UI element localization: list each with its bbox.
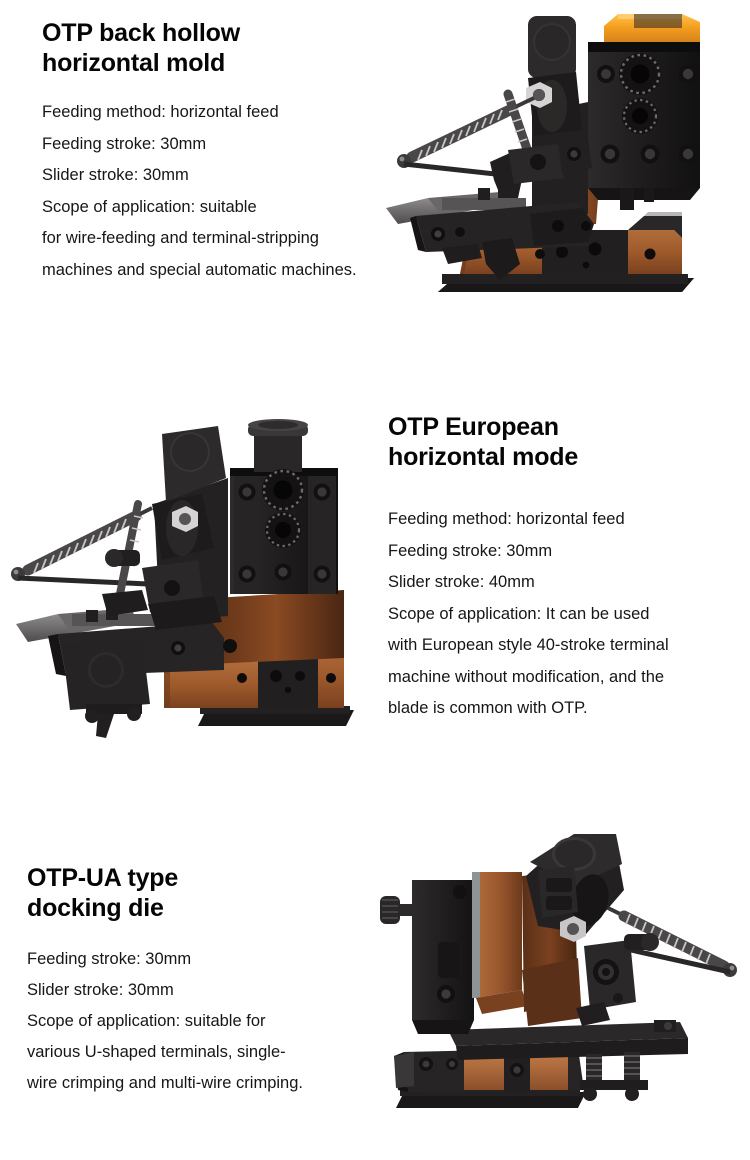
rounded-top-cap [528, 16, 576, 78]
product-section-otp-european: OTP European horizontal mode Feeding met… [0, 390, 750, 830]
spring-arm [11, 504, 152, 594]
left-housing [380, 880, 474, 1034]
product-image-otp-back-hollow [382, 2, 742, 312]
feed-finger [530, 208, 594, 246]
ram-body [526, 16, 588, 222]
ram-head [526, 834, 624, 942]
die-head-assembly [588, 14, 700, 210]
product-section-otp-back-hollow: OTP back hollow horizontal mold Feeding … [0, 0, 750, 390]
product-section-otp-ua-docking-die: OTP-UA type docking die Feeding stroke: … [0, 830, 750, 1160]
threaded-posts [580, 1052, 648, 1101]
product-image-otp-european [2, 408, 368, 748]
copper-column [208, 590, 344, 664]
copper-panel [472, 872, 528, 1014]
product-text-block: OTP-UA type docking die Feeding stroke: … [27, 863, 362, 1099]
product-image-otp-ua-docking-die [378, 830, 750, 1160]
die-head-assembly [230, 419, 338, 594]
product-title: OTP-UA type docking die [27, 863, 362, 923]
spring-arm [397, 94, 534, 200]
cylinder-knob [248, 419, 308, 472]
round-clamp [62, 638, 150, 738]
product-specs: Feeding stroke: 30mm Slider stroke: 30mm… [27, 944, 362, 1099]
product-title: OTP European horizontal mode [388, 412, 733, 472]
amber-top-cap [604, 14, 700, 42]
arm-knob [105, 549, 140, 567]
base-plate [438, 274, 694, 292]
product-text-block: OTP European horizontal mode Feeding met… [388, 412, 733, 725]
product-title: OTP back hollow horizontal mold [42, 18, 382, 78]
base-plate [198, 706, 354, 726]
product-specs: Feeding method: horizontal feed Feeding … [388, 504, 733, 725]
product-text-block: OTP back hollow horizontal mold Feeding … [42, 18, 382, 286]
product-specs: Feeding method: horizontal feed Feeding … [42, 97, 382, 286]
right-clamp [576, 940, 636, 1026]
horizontal-rail [448, 1020, 688, 1060]
